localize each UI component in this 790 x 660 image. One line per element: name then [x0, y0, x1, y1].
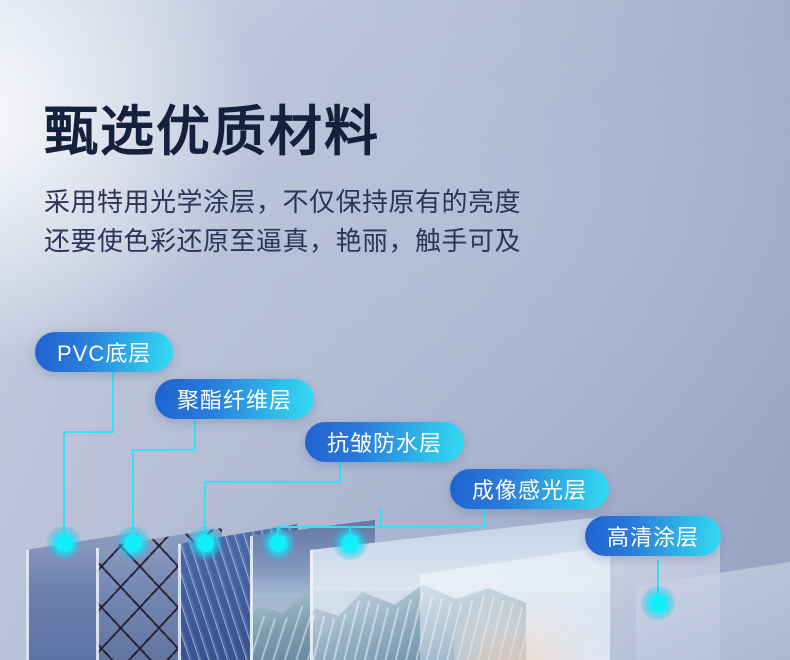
- layer-dot-hd[interactable]: [641, 586, 675, 620]
- layer-label-fiber[interactable]: 聚酯纤维层: [155, 379, 314, 419]
- layer-label-hd-coating[interactable]: 高清涂层: [585, 516, 721, 556]
- layer-dot-fiber[interactable]: [116, 526, 150, 560]
- layer-dot-water[interactable]: [188, 526, 222, 560]
- strip-edge-highlight: [26, 532, 29, 660]
- heading-block: 甄选优质材料 采用特用光学涂层，不仅保持原有的亮度 还要使色彩还原至逼真，艳丽，…: [44, 104, 684, 262]
- layer-dot-photo[interactable]: [261, 526, 295, 560]
- layer-dot-extra[interactable]: [333, 526, 367, 560]
- subtitle-line-2: 还要使色彩还原至逼真，艳丽，触手可及: [44, 222, 684, 262]
- material-layers-infographic: PVC底层 聚酯纤维层 抗皱防水层 成像感光层 高清涂层 甄选优质材料 采用特用…: [0, 0, 790, 660]
- page-subtitle: 采用特用光学涂层，不仅保持原有的亮度 还要使色彩还原至逼真，艳丽，触手可及: [44, 183, 684, 262]
- layer-label-pvc[interactable]: PVC底层: [35, 332, 173, 372]
- strip-edge-highlight: [178, 524, 181, 660]
- layer-label-photosensitive[interactable]: 成像感光层: [450, 469, 609, 509]
- layer-dot-pvc[interactable]: [47, 526, 81, 560]
- subtitle-line-1: 采用特用光学涂层，不仅保持原有的亮度: [44, 183, 684, 223]
- strip-edge-highlight: [250, 520, 253, 660]
- layer-label-waterproof[interactable]: 抗皱防水层: [305, 422, 464, 462]
- page-title: 甄选优质材料: [44, 104, 684, 161]
